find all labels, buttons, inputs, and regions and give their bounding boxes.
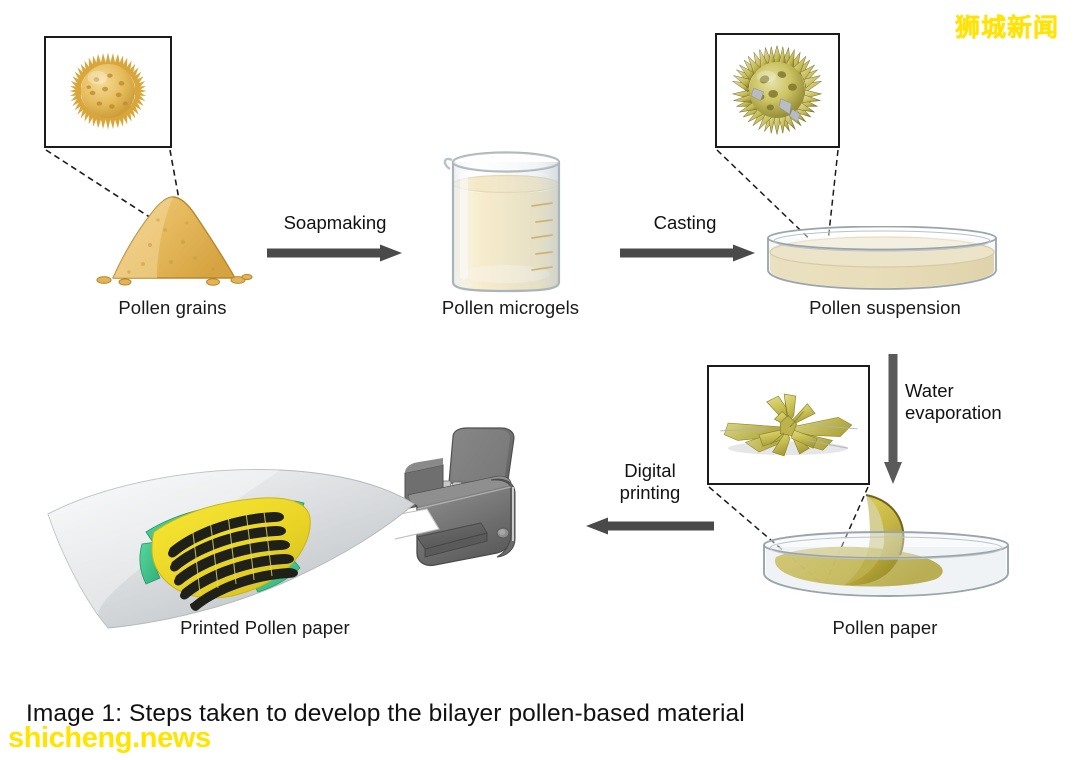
figure-root: 狮城新闻: [0, 0, 1080, 760]
petri-dish-pollen-paper: [758, 485, 1014, 605]
arrow-label-digital-printing: Digital printing: [585, 460, 715, 504]
arrow-label-digital-printing-line1: Digital: [585, 460, 715, 482]
stage-label-printed-pollen-paper: Printed Pollen paper: [55, 617, 475, 639]
leader-lines-pollen-paper: [0, 0, 1080, 760]
arrow-digital-printing: [586, 516, 716, 536]
watermark-shicheng-news: shicheng.news: [8, 722, 211, 755]
printed-pollen-paper: [42, 452, 442, 642]
arrow-label-digital-printing-line2: printing: [585, 482, 715, 504]
stage-label-pollen-paper: Pollen paper: [740, 617, 1030, 639]
